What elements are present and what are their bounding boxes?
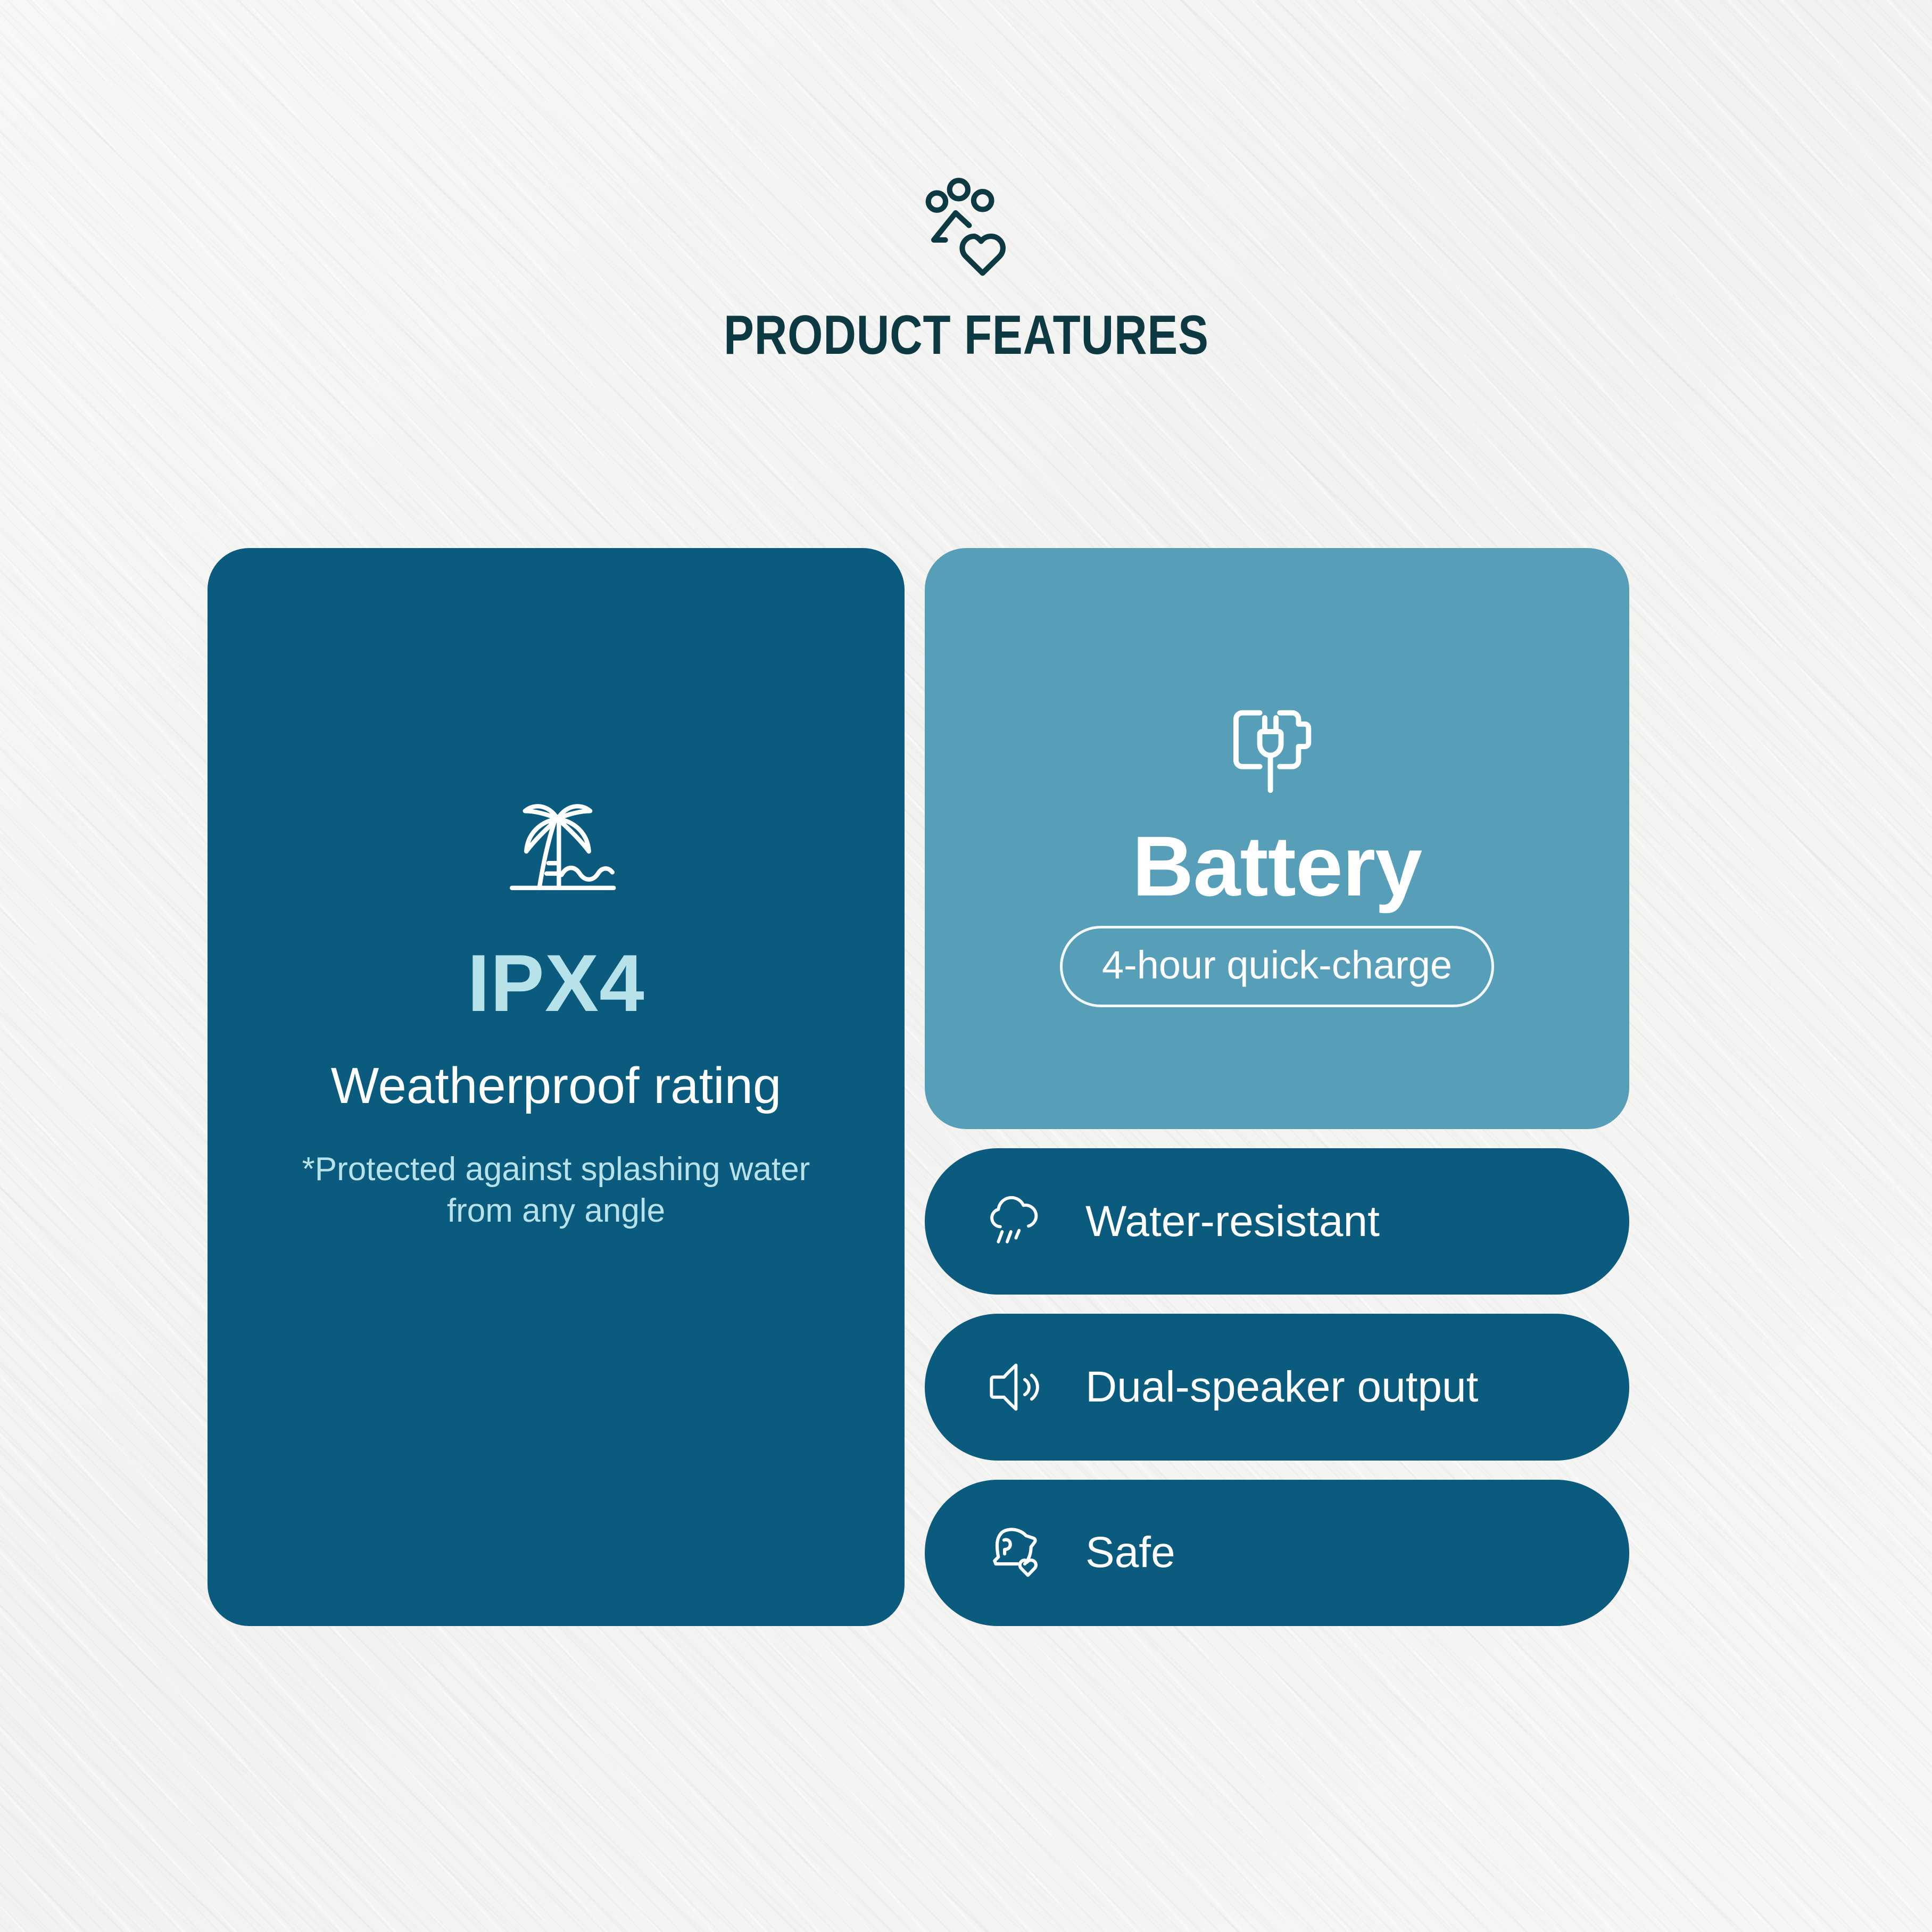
ipx4-rating-value: IPX4 bbox=[467, 943, 645, 1024]
feature-pill-label: Safe bbox=[1085, 1528, 1175, 1578]
ipx4-feature-card[interactable]: IPX4 Weatherproof rating *Protected agai… bbox=[208, 548, 905, 1626]
quick-charge-badge[interactable]: 4-hour quick-charge bbox=[1060, 926, 1494, 1007]
battery-title: Battery bbox=[1132, 822, 1422, 911]
ipx4-footnote: *Protected against splashing water from … bbox=[279, 1149, 833, 1231]
paw-heart-icon bbox=[914, 176, 1018, 279]
palm-tree-beach-icon bbox=[491, 790, 621, 921]
speaker-volume-icon bbox=[983, 1356, 1046, 1419]
page-title: PRODUCT FEATURES bbox=[724, 304, 1209, 367]
feature-pill-water-resistant[interactable]: Water-resistant bbox=[925, 1148, 1629, 1295]
product-features-page: PRODUCT FEATURES bbox=[0, 0, 1932, 1932]
header: PRODUCT FEATURES bbox=[0, 176, 1932, 367]
ipx4-headline: Weatherproof rating bbox=[331, 1056, 782, 1116]
feature-pill-label: Water-resistant bbox=[1085, 1197, 1380, 1247]
content-area: IPX4 Weatherproof rating *Protected agai… bbox=[208, 548, 1629, 1626]
battery-charging-plug-icon bbox=[1215, 689, 1340, 814]
rain-cloud-icon bbox=[983, 1190, 1046, 1253]
battery-feature-card[interactable]: Battery 4-hour quick-charge bbox=[925, 548, 1629, 1129]
feature-pill-dual-speaker[interactable]: Dual-speaker output bbox=[925, 1314, 1629, 1460]
feature-pill-safe[interactable]: Safe bbox=[925, 1480, 1629, 1626]
dog-heart-icon bbox=[983, 1521, 1046, 1584]
right-column: Battery 4-hour quick-charge Water-resist… bbox=[925, 548, 1629, 1626]
feature-pill-label: Dual-speaker output bbox=[1085, 1362, 1478, 1412]
